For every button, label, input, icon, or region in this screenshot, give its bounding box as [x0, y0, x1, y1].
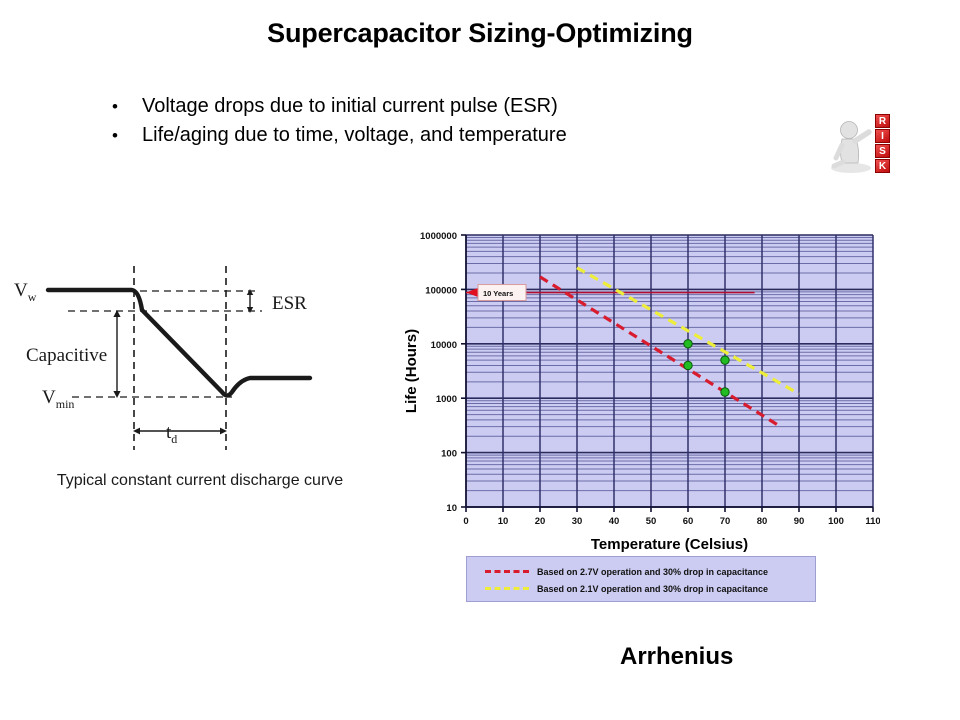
x-tick-label: 0	[463, 516, 468, 527]
risk-letter: K	[875, 159, 890, 173]
risk-blocks-icon: R I S K	[826, 112, 892, 176]
bullet-list: • Voltage drops due to initial current p…	[112, 92, 812, 150]
discharge-curve-diagram: Vw ESR Capacitive Vmin td	[0, 258, 400, 508]
plot-area-background	[466, 235, 873, 507]
vmin-label: Vmin	[42, 387, 74, 411]
legend-swatch-yellow	[485, 587, 529, 590]
risk-letter-stack: R I S K	[875, 114, 890, 173]
legend-label: Based on 2.7V operation and 30% drop in …	[537, 567, 768, 577]
legend-entry: Based on 2.7V operation and 30% drop in …	[485, 563, 815, 580]
x-tick-label: 100	[828, 516, 844, 527]
y-axis-title: Life (Hours)	[403, 329, 420, 413]
y-tick-label: 100000	[425, 285, 457, 296]
x-axis-title: Temperature (Celsius)	[591, 536, 748, 553]
bullet-marker: •	[112, 121, 142, 150]
y-tick-label: 1000000	[420, 231, 457, 242]
y-tick-label: 10	[446, 503, 457, 514]
risk-letter: R	[875, 114, 890, 128]
discharge-curve-path	[48, 290, 310, 396]
x-tick-label: 90	[794, 516, 805, 527]
data-point-marker-0-0	[684, 361, 692, 369]
x-tick-label: 30	[572, 516, 583, 527]
arrhenius-caption: Arrhenius	[620, 643, 733, 671]
risk-letter: I	[875, 129, 890, 143]
y-tick-label: 1000	[436, 394, 457, 405]
bullet-marker: •	[112, 92, 142, 121]
page-title: Supercapacitor Sizing-Optimizing	[0, 18, 960, 49]
x-tick-label: 50	[646, 516, 657, 527]
x-tick-label: 110	[865, 516, 880, 527]
list-item: • Life/aging due to time, voltage, and t…	[112, 121, 812, 150]
legend-label: Based on 2.1V operation and 30% drop in …	[537, 584, 768, 594]
x-tick-label: 80	[757, 516, 768, 527]
bullet-text: Life/aging due to time, voltage, and tem…	[142, 121, 567, 150]
legend-entry: Based on 2.1V operation and 30% drop in …	[485, 580, 815, 597]
x-tick-label: 60	[683, 516, 694, 527]
arrhenius-life-chart: 1010010001000010000010000000102030405060…	[400, 222, 880, 612]
capacitive-label: Capacitive	[26, 345, 107, 366]
discharge-curve-caption: Typical constant current discharge curve	[0, 472, 400, 490]
x-tick-label: 10	[498, 516, 509, 527]
ten-years-annotation-label: 10 Years	[483, 289, 513, 298]
y-tick-label: 100	[441, 449, 457, 460]
vw-label: Vw	[14, 280, 37, 304]
esr-label: ESR	[272, 293, 307, 314]
risk-letter: S	[875, 144, 890, 158]
data-point-marker-1-1	[721, 356, 729, 364]
esr-arrow-head-up	[247, 289, 253, 295]
bullet-text: Voltage drops due to initial current pul…	[142, 92, 558, 121]
x-tick-label: 20	[535, 516, 546, 527]
x-tick-label: 70	[720, 516, 731, 527]
td-label: td	[166, 422, 177, 446]
x-tick-label: 40	[609, 516, 620, 527]
data-point-marker-0-1	[721, 388, 729, 396]
list-item: • Voltage drops due to initial current p…	[112, 92, 812, 121]
data-point-marker-1-0	[684, 340, 692, 348]
esr-arrow-head-down	[247, 307, 253, 313]
chart-legend: Based on 2.7V operation and 30% drop in …	[466, 556, 816, 602]
legend-swatch-red	[485, 570, 529, 573]
y-tick-label: 10000	[431, 340, 457, 351]
